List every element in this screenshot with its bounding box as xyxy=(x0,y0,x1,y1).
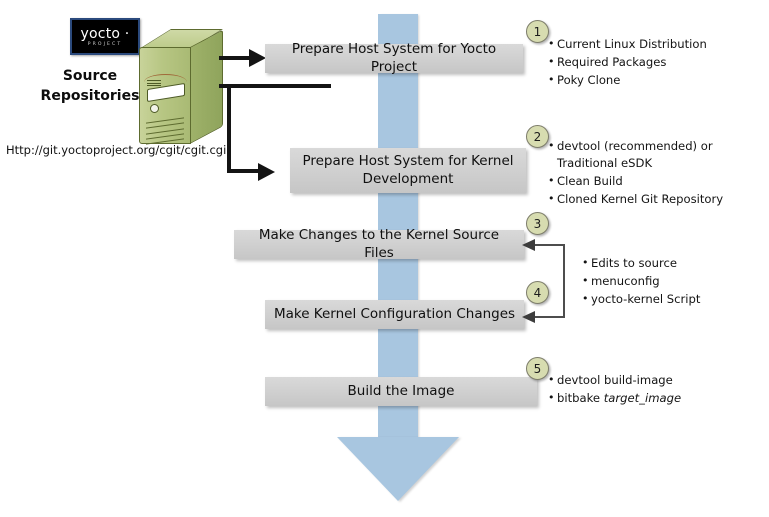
step-circle-1: 1 xyxy=(526,20,549,43)
step-circle-5: 5 xyxy=(526,357,549,380)
command-name: bitbake xyxy=(557,391,604,405)
bullet-icon: • xyxy=(548,54,557,70)
note-text: Edits to source xyxy=(591,255,767,272)
yocto-logo-wordmark: yocto · xyxy=(81,27,130,41)
flow-arrow-head-icon xyxy=(337,437,459,501)
server-vents xyxy=(147,80,161,85)
list-item: • Cloned Kernel Git Repository xyxy=(548,191,763,208)
server-grill xyxy=(146,120,184,146)
arrowhead-to-box1-icon xyxy=(249,49,266,67)
source-repositories-label: Source Repositories xyxy=(30,66,150,107)
bullet-icon: • xyxy=(548,372,557,388)
note-text: devtool (recommended) or Traditional eSD… xyxy=(557,138,763,172)
bracket-branch-to-box3 xyxy=(534,244,564,246)
bullet-icon: • xyxy=(582,273,591,289)
server-tower-icon xyxy=(139,29,229,144)
server-front-face xyxy=(139,47,191,144)
list-item: • Edits to source xyxy=(582,255,767,272)
notes-step-3-4: • Edits to source • menuconfig • yocto-k… xyxy=(582,255,767,309)
list-item: • devtool build-image xyxy=(548,372,763,389)
command-argument: target_image xyxy=(604,391,681,405)
process-box-prepare-host-kernel[interactable]: Prepare Host System for Kernel Developme… xyxy=(290,148,526,193)
list-item: • yocto-kernel Script xyxy=(582,291,767,308)
note-text-command: bitbake target_image xyxy=(557,390,763,407)
bullet-icon: • xyxy=(548,390,557,406)
step-circle-3: 3 xyxy=(526,212,549,235)
yocto-logo-subtitle: PROJECT xyxy=(88,43,123,48)
step-circle-4: 4 xyxy=(526,281,549,304)
connector-server-to-box1 xyxy=(219,56,251,60)
diagram-canvas: yocto · PROJECT Source Repositories Http… xyxy=(0,0,769,517)
bullet-icon: • xyxy=(548,36,557,52)
process-box-make-source-changes[interactable]: Make Changes to the Kernel Source Files xyxy=(234,230,524,259)
note-text: devtool build-image xyxy=(557,372,763,389)
bullet-icon: • xyxy=(548,138,557,154)
source-repositories-label-line2: Repositories xyxy=(30,86,150,106)
source-repositories-url: Http://git.yoctoproject.org/cgit/cgit.cg… xyxy=(6,143,231,157)
arrowhead-to-box2-icon xyxy=(258,163,275,181)
connector-server-to-box2-segment1 xyxy=(219,84,331,88)
source-repositories-label-line1: Source xyxy=(30,66,150,86)
process-box-prepare-host-yocto[interactable]: Prepare Host System for Yocto Project xyxy=(265,44,523,73)
note-text: Required Packages xyxy=(557,54,763,71)
notes-step-2: • devtool (recommended) or Traditional e… xyxy=(548,138,763,209)
note-text: yocto-kernel Script xyxy=(591,291,767,308)
server-power-led xyxy=(150,104,159,113)
list-item: • Required Packages xyxy=(548,54,763,71)
note-text: Cloned Kernel Git Repository xyxy=(557,191,763,208)
connector-server-to-box2-segment2 xyxy=(227,84,231,173)
bullet-icon: • xyxy=(548,173,557,189)
notes-step-1: • Current Linux Distribution • Required … xyxy=(548,36,763,90)
list-item: • menuconfig xyxy=(582,273,767,290)
step-circle-2: 2 xyxy=(526,125,549,148)
yocto-project-logo: yocto · PROJECT xyxy=(70,18,140,55)
list-item: • bitbake target_image xyxy=(548,390,763,407)
note-text: Current Linux Distribution xyxy=(557,36,763,53)
bracket-branch-to-box4 xyxy=(534,316,564,318)
process-box-build-image[interactable]: Build the Image xyxy=(265,377,537,406)
bullet-icon: • xyxy=(582,291,591,307)
list-item: • Clean Build xyxy=(548,173,763,190)
bullet-icon: • xyxy=(582,255,591,271)
connector-server-to-box2-segment3 xyxy=(227,169,262,173)
arrowhead-to-box3-icon xyxy=(522,239,535,251)
bracket-vertical xyxy=(563,244,565,318)
notes-step-5: • devtool build-image • bitbake target_i… xyxy=(548,372,763,408)
note-text: menuconfig xyxy=(591,273,767,290)
note-text: Poky Clone xyxy=(557,72,763,89)
process-box-make-config-changes[interactable]: Make Kernel Configuration Changes xyxy=(265,300,524,329)
list-item: • Current Linux Distribution xyxy=(548,36,763,53)
list-item: • devtool (recommended) or Traditional e… xyxy=(548,138,763,172)
list-item: • Poky Clone xyxy=(548,72,763,89)
bullet-icon: • xyxy=(548,72,557,88)
arrowhead-to-box4-icon xyxy=(522,311,535,323)
bullet-icon: • xyxy=(548,191,557,207)
note-text: Clean Build xyxy=(557,173,763,190)
